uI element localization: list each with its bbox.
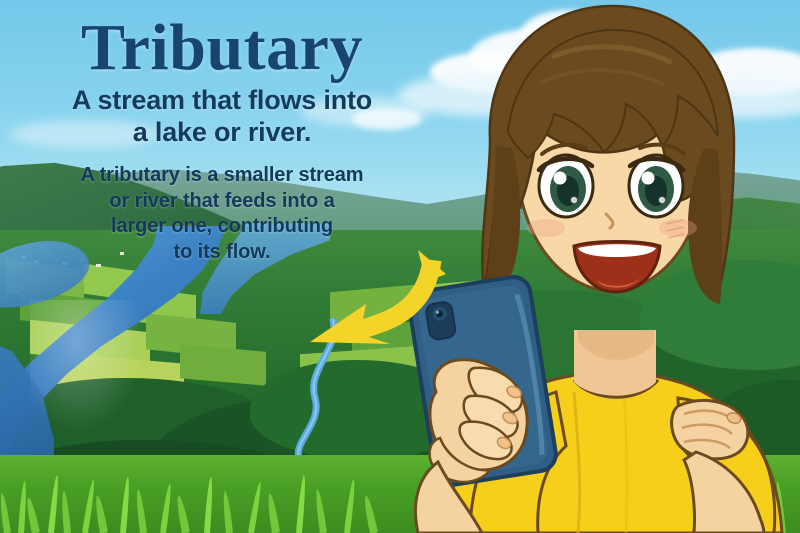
page-title: Tributary bbox=[22, 14, 422, 81]
body-line-2: or river that feeds into a bbox=[22, 189, 422, 215]
text-block: Tributary A stream that flows into a lak… bbox=[22, 14, 422, 265]
pointer-arrow-icon bbox=[300, 248, 450, 368]
vocabulary-card: Tributary A stream that flows into a lak… bbox=[0, 0, 800, 533]
body-line-3: larger one, contributing bbox=[22, 214, 422, 240]
definition-body: A tributary is a smaller stream or river… bbox=[22, 163, 422, 265]
subtitle-line-2: a lake or river. bbox=[22, 117, 422, 149]
body-line-1: A tributary is a smaller stream bbox=[22, 163, 422, 189]
body-line-4: to its flow. bbox=[22, 240, 422, 266]
definition-subtitle: A stream that flows into a lake or river… bbox=[22, 85, 422, 149]
river-sun-glint bbox=[30, 300, 150, 440]
subtitle-line-1: A stream that flows into bbox=[22, 85, 422, 117]
